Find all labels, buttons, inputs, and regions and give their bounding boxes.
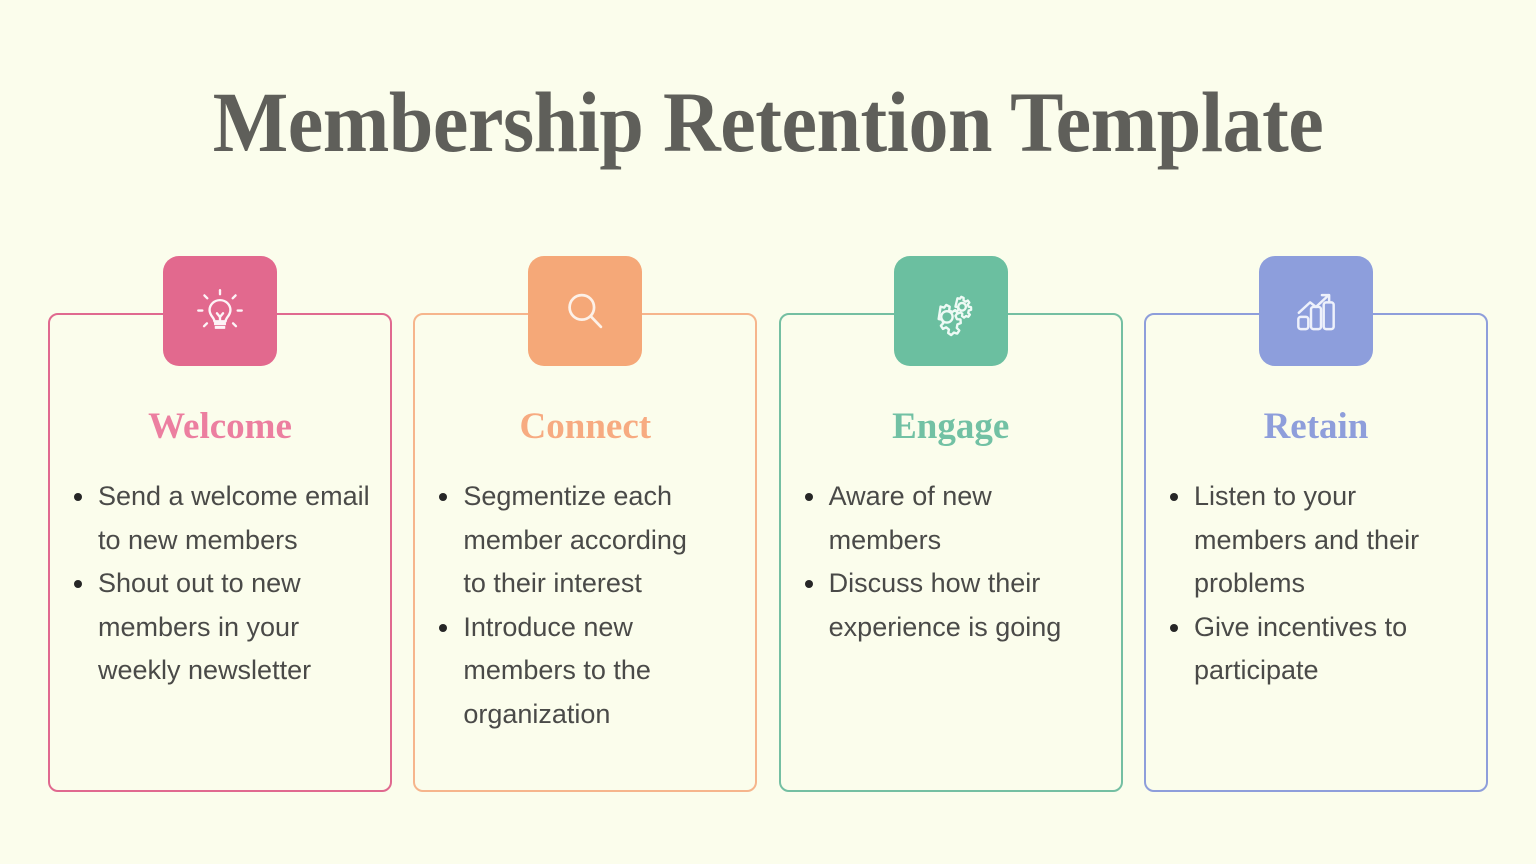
magnifier-icon — [556, 282, 614, 340]
lightbulb-icon — [191, 282, 249, 340]
list-item: Discuss how their experience is going — [827, 562, 1105, 649]
card-bullet-list: Aware of new members Discuss how their e… — [793, 475, 1109, 649]
card-welcome[interactable]: Welcome Send a welcome email to new memb… — [48, 256, 392, 792]
card-content-retain: Retain Listen to your members and their … — [1144, 313, 1488, 792]
card-content-connect: Connect Segmentize each member according… — [413, 313, 757, 792]
card-heading: Engage — [793, 407, 1109, 447]
list-item: Listen to your members and their problem… — [1192, 475, 1444, 606]
card-bullet-list: Send a welcome email to new members Shou… — [62, 475, 378, 693]
page-title: Membership Retention Template — [54, 72, 1482, 172]
card-row: Welcome Send a welcome email to new memb… — [48, 256, 1488, 796]
card-bullet-list: Segmentize each member according to thei… — [427, 475, 743, 736]
card-engage[interactable]: Engage Aware of new members Discuss how … — [779, 256, 1123, 792]
card-content-engage: Engage Aware of new members Discuss how … — [779, 313, 1123, 792]
card-heading: Welcome — [62, 407, 378, 447]
list-item: Introduce new members to the organizatio… — [461, 606, 693, 737]
list-item: Segmentize each member according to thei… — [461, 475, 693, 606]
list-item: Give incentives to participate — [1192, 606, 1444, 693]
card-heading: Connect — [427, 407, 743, 447]
gears-icon — [922, 282, 980, 340]
bar-chart-growth-icon — [1287, 282, 1345, 340]
icon-tile-engage — [894, 256, 1008, 366]
card-connect[interactable]: Connect Segmentize each member according… — [413, 256, 757, 792]
list-item: Aware of new members — [827, 475, 1105, 562]
card-bullet-list: Listen to your members and their problem… — [1158, 475, 1474, 693]
list-item: Shout out to new members in your weekly … — [96, 562, 374, 693]
card-heading: Retain — [1158, 407, 1474, 447]
icon-tile-connect — [528, 256, 642, 366]
icon-tile-welcome — [163, 256, 277, 366]
icon-tile-retain — [1259, 256, 1373, 366]
list-item: Send a welcome email to new members — [96, 475, 374, 562]
card-retain[interactable]: Retain Listen to your members and their … — [1144, 256, 1488, 792]
slide-canvas: Membership Retention Template — [0, 0, 1536, 864]
card-content-welcome: Welcome Send a welcome email to new memb… — [48, 313, 392, 792]
